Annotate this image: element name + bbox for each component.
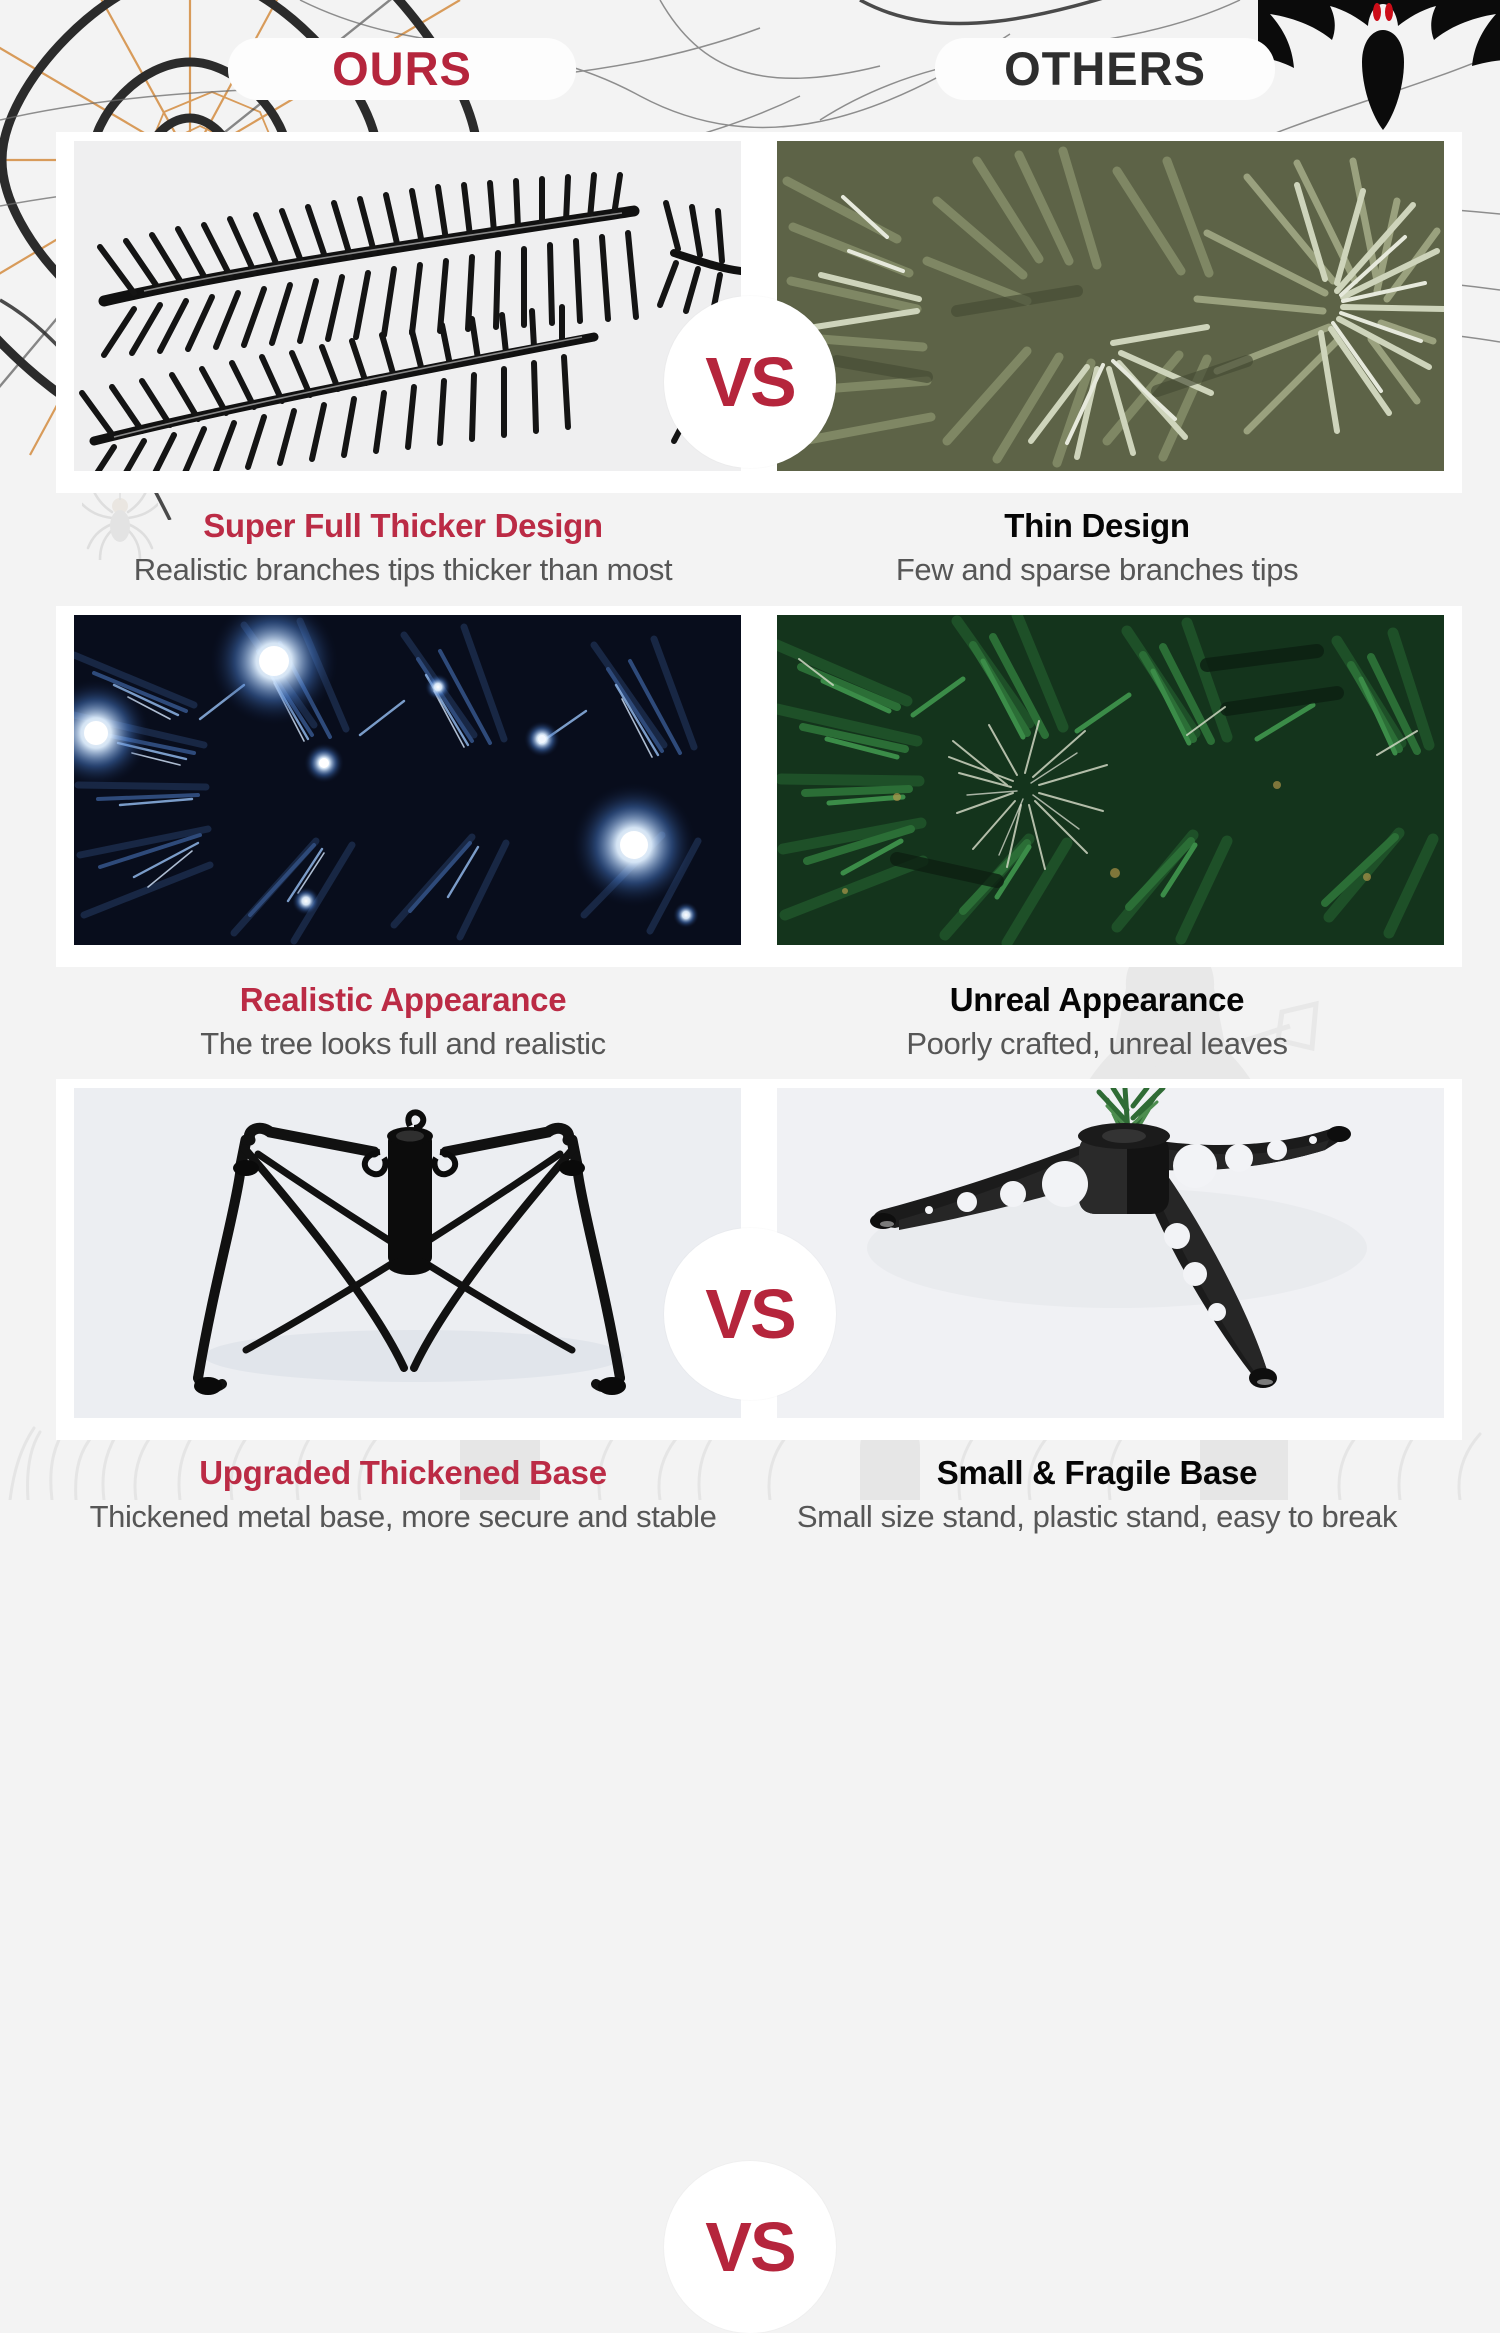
ours-caption-3: Upgraded Thickened Base Thickened metal … xyxy=(56,1440,750,1537)
ours-card-2 xyxy=(56,606,759,967)
ours-caption-1: Super Full Thicker Design Realistic bran… xyxy=(56,493,750,590)
caption-band-2: Realistic Appearance The tree looks full… xyxy=(0,967,1500,1080)
ours-subtitle-3: Thickened metal base, more secure and st… xyxy=(56,1498,750,1537)
others-title-3: Small & Fragile Base xyxy=(750,1454,1444,1492)
others-subtitle-1: Few and sparse branches tips xyxy=(750,551,1444,590)
header-row: OURS OTHERS xyxy=(0,0,1500,132)
photo-black-tree-with-white-lights xyxy=(74,615,741,945)
photo-dark-green-tree-closeup xyxy=(777,615,1444,945)
ours-subtitle-1: Realistic branches tips thicker than mos… xyxy=(56,551,750,590)
comparison-grid: VS Super Full Thicker Design Realistic b… xyxy=(0,132,1500,1553)
others-card-3 xyxy=(759,1079,1462,1440)
others-title-2: Unreal Appearance xyxy=(750,981,1444,1019)
others-title-1: Thin Design xyxy=(750,507,1444,545)
ours-title-2: Realistic Appearance xyxy=(56,981,750,1019)
vs-badge-label: VS xyxy=(705,1274,794,1354)
ours-card-1 xyxy=(56,132,759,493)
others-subtitle-2: Poorly crafted, unreal leaves xyxy=(750,1025,1444,1064)
comparison-row-1: VS xyxy=(0,132,1500,493)
vs-badge-1: VS xyxy=(664,296,836,468)
ours-title-1: Super Full Thicker Design xyxy=(56,507,750,545)
others-caption-3: Small & Fragile Base Small size stand, p… xyxy=(750,1440,1444,1537)
comparison-row-2: VS xyxy=(0,606,1500,967)
others-subtitle-3: Small size stand, plastic stand, easy to… xyxy=(750,1498,1444,1537)
others-caption-2: Unreal Appearance Poorly crafted, unreal… xyxy=(750,967,1444,1064)
ours-caption-2: Realistic Appearance The tree looks full… xyxy=(56,967,750,1064)
photo-black-metal-x-tree-stand xyxy=(74,1088,741,1418)
others-caption-1: Thin Design Few and sparse branches tips xyxy=(750,493,1444,590)
ours-card-3 xyxy=(56,1079,759,1440)
others-card-2 xyxy=(759,606,1462,967)
photo-black-pine-branch-closeup xyxy=(74,141,741,471)
ours-header-pill: OURS xyxy=(228,38,576,100)
vs-badge-2: VS xyxy=(664,1228,836,1400)
ours-title-3: Upgraded Thickened Base xyxy=(56,1454,750,1492)
vs-badge-3: VS xyxy=(664,2161,836,2333)
others-header-pill: OTHERS xyxy=(935,38,1275,100)
ours-subtitle-2: The tree looks full and realistic xyxy=(56,1025,750,1064)
caption-band-1: Super Full Thicker Design Realistic bran… xyxy=(0,493,1500,606)
vs-badge-label: VS xyxy=(705,342,794,422)
photo-olive-sparse-needles-closeup xyxy=(777,141,1444,471)
photo-black-plastic-tripod-stand xyxy=(777,1088,1444,1418)
vs-badge-label: VS xyxy=(705,2207,794,2287)
others-card-1 xyxy=(759,132,1462,493)
caption-band-3: Upgraded Thickened Base Thickened metal … xyxy=(0,1440,1500,1553)
